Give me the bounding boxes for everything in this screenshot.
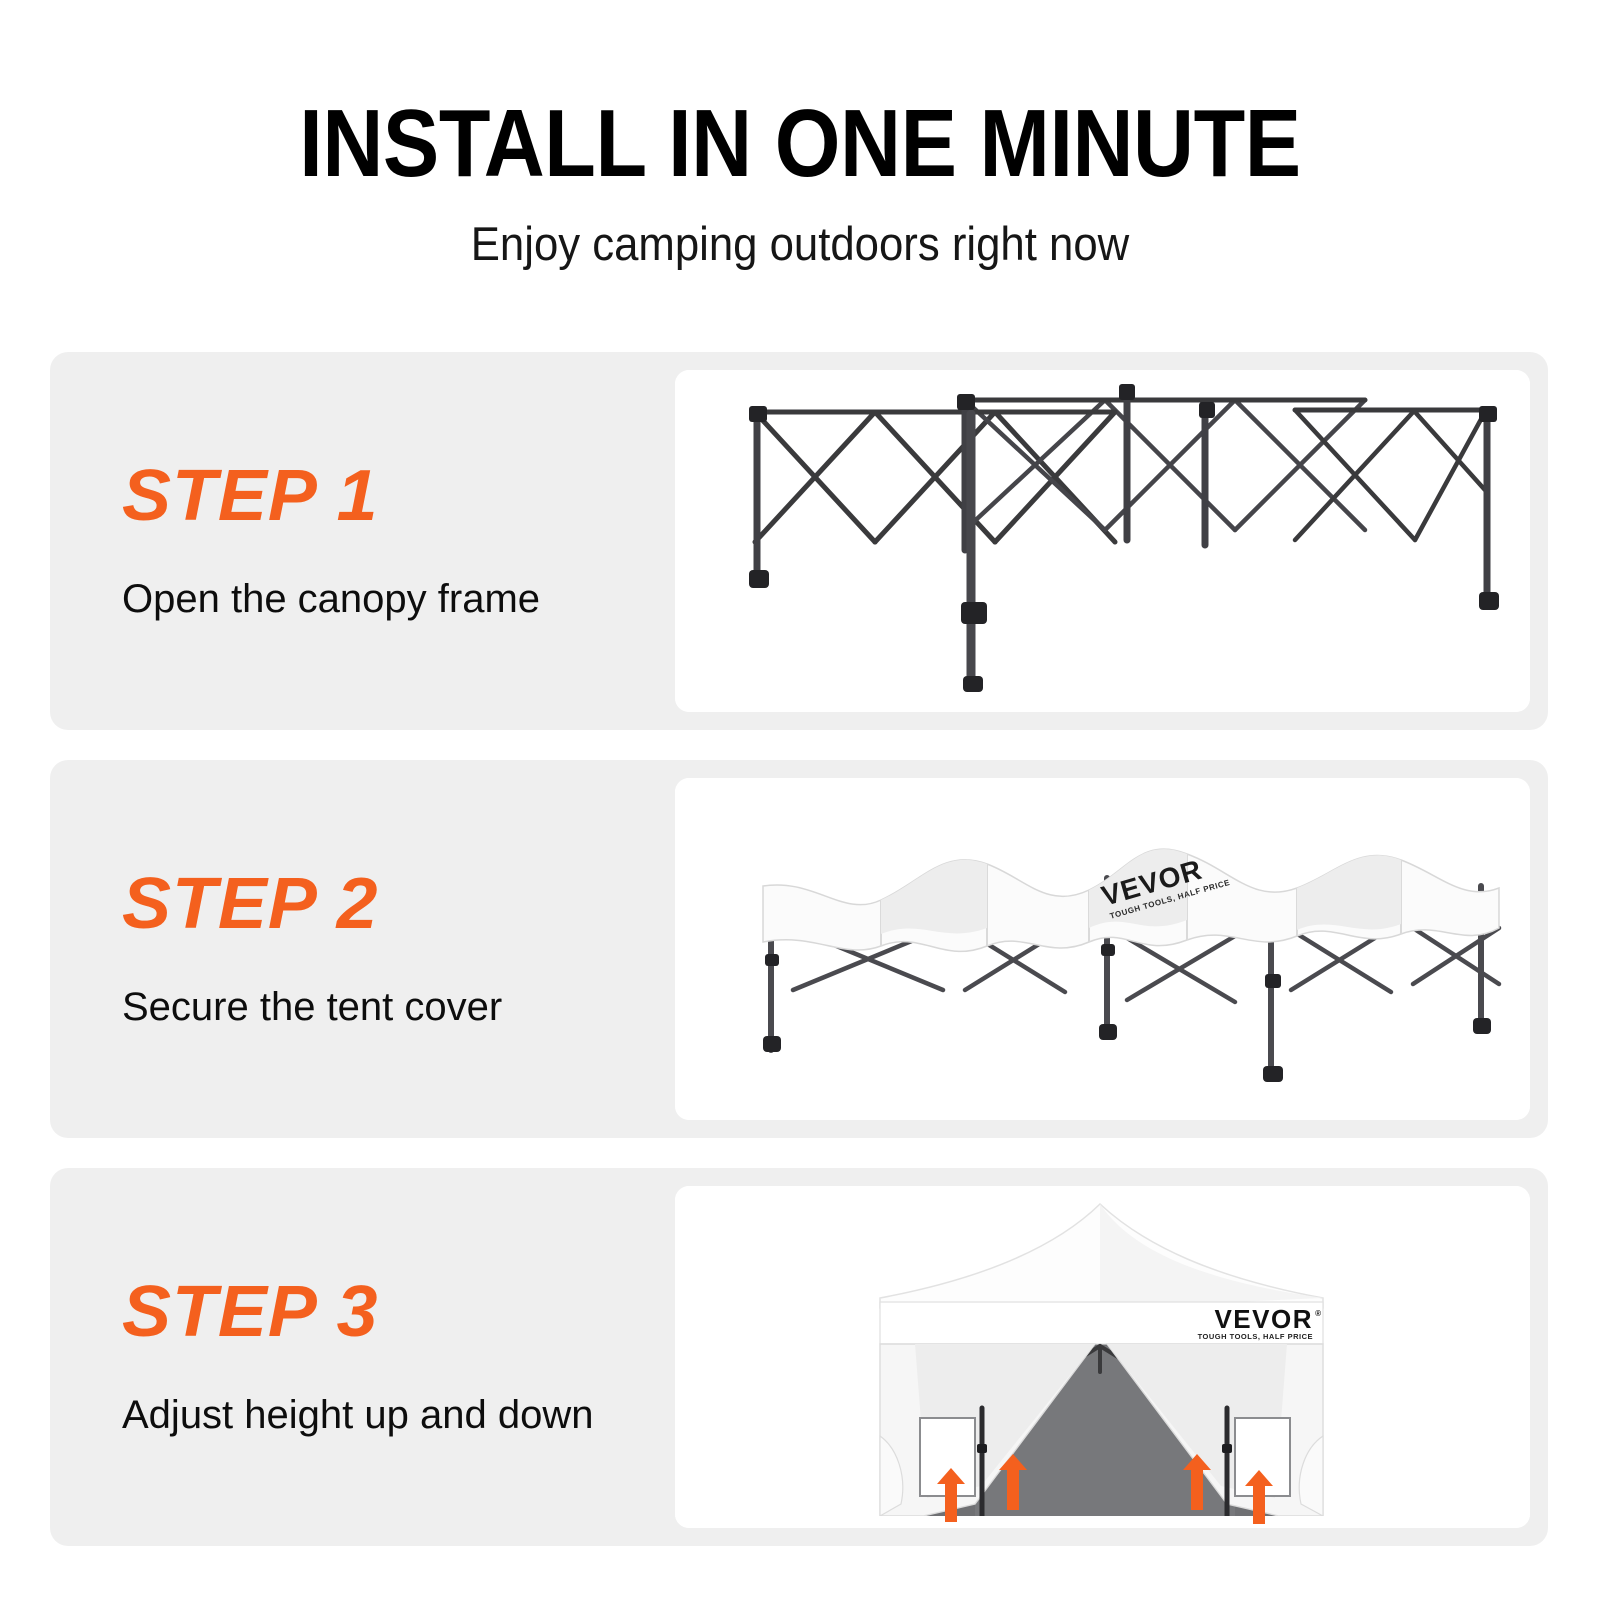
svg-text:TOUGH TOOLS, HALF PRICE: TOUGH TOOLS, HALF PRICE bbox=[1198, 1332, 1313, 1341]
page-subtitle: Enjoy camping outdoors right now bbox=[56, 192, 1544, 270]
step-3-label: STEP 3 bbox=[122, 1276, 678, 1348]
step-2-text-block: STEP 2 Secure the tent cover bbox=[122, 760, 667, 1138]
svg-text:VEVOR: VEVOR bbox=[1214, 1304, 1313, 1334]
step-1-description: Open the canopy frame bbox=[122, 576, 667, 622]
step-1-image-panel bbox=[675, 370, 1530, 712]
step-1-text-block: STEP 1 Open the canopy frame bbox=[122, 352, 667, 730]
step-2-image-panel: VEVOR TOUGH TOOLS, HALF PRICE bbox=[675, 778, 1530, 1120]
page-title: INSTALL IN ONE MINUTE bbox=[96, 0, 1504, 192]
step-card-2: STEP 2 Secure the tent cover bbox=[50, 760, 1548, 1138]
step-card-1: STEP 1 Open the canopy frame bbox=[50, 352, 1548, 730]
step-3-image-panel: VEVOR ® TOUGH TOOLS, HALF PRICE bbox=[675, 1186, 1530, 1528]
canopy-full-height-illustration: VEVOR ® TOUGH TOOLS, HALF PRICE bbox=[675, 1186, 1530, 1528]
steps-list: STEP 1 Open the canopy frame bbox=[50, 352, 1548, 1546]
step-card-3: STEP 3 Adjust height up and down bbox=[50, 1168, 1548, 1546]
step-2-label: STEP 2 bbox=[122, 868, 678, 940]
canopy-cover-draped-illustration: VEVOR TOUGH TOOLS, HALF PRICE bbox=[675, 778, 1530, 1120]
vevor-brand-mark: VEVOR ® TOUGH TOOLS, HALF PRICE bbox=[1198, 1304, 1322, 1341]
install-guide-page: INSTALL IN ONE MINUTE Enjoy camping outd… bbox=[0, 0, 1600, 1600]
step-1-label: STEP 1 bbox=[122, 460, 678, 532]
header: INSTALL IN ONE MINUTE Enjoy camping outd… bbox=[0, 0, 1600, 270]
step-3-description: Adjust height up and down bbox=[122, 1392, 667, 1438]
canopy-frame-open-illustration bbox=[675, 370, 1530, 712]
step-2-description: Secure the tent cover bbox=[122, 984, 667, 1030]
step-3-text-block: STEP 3 Adjust height up and down bbox=[122, 1168, 667, 1546]
svg-text:®: ® bbox=[1315, 1309, 1321, 1318]
